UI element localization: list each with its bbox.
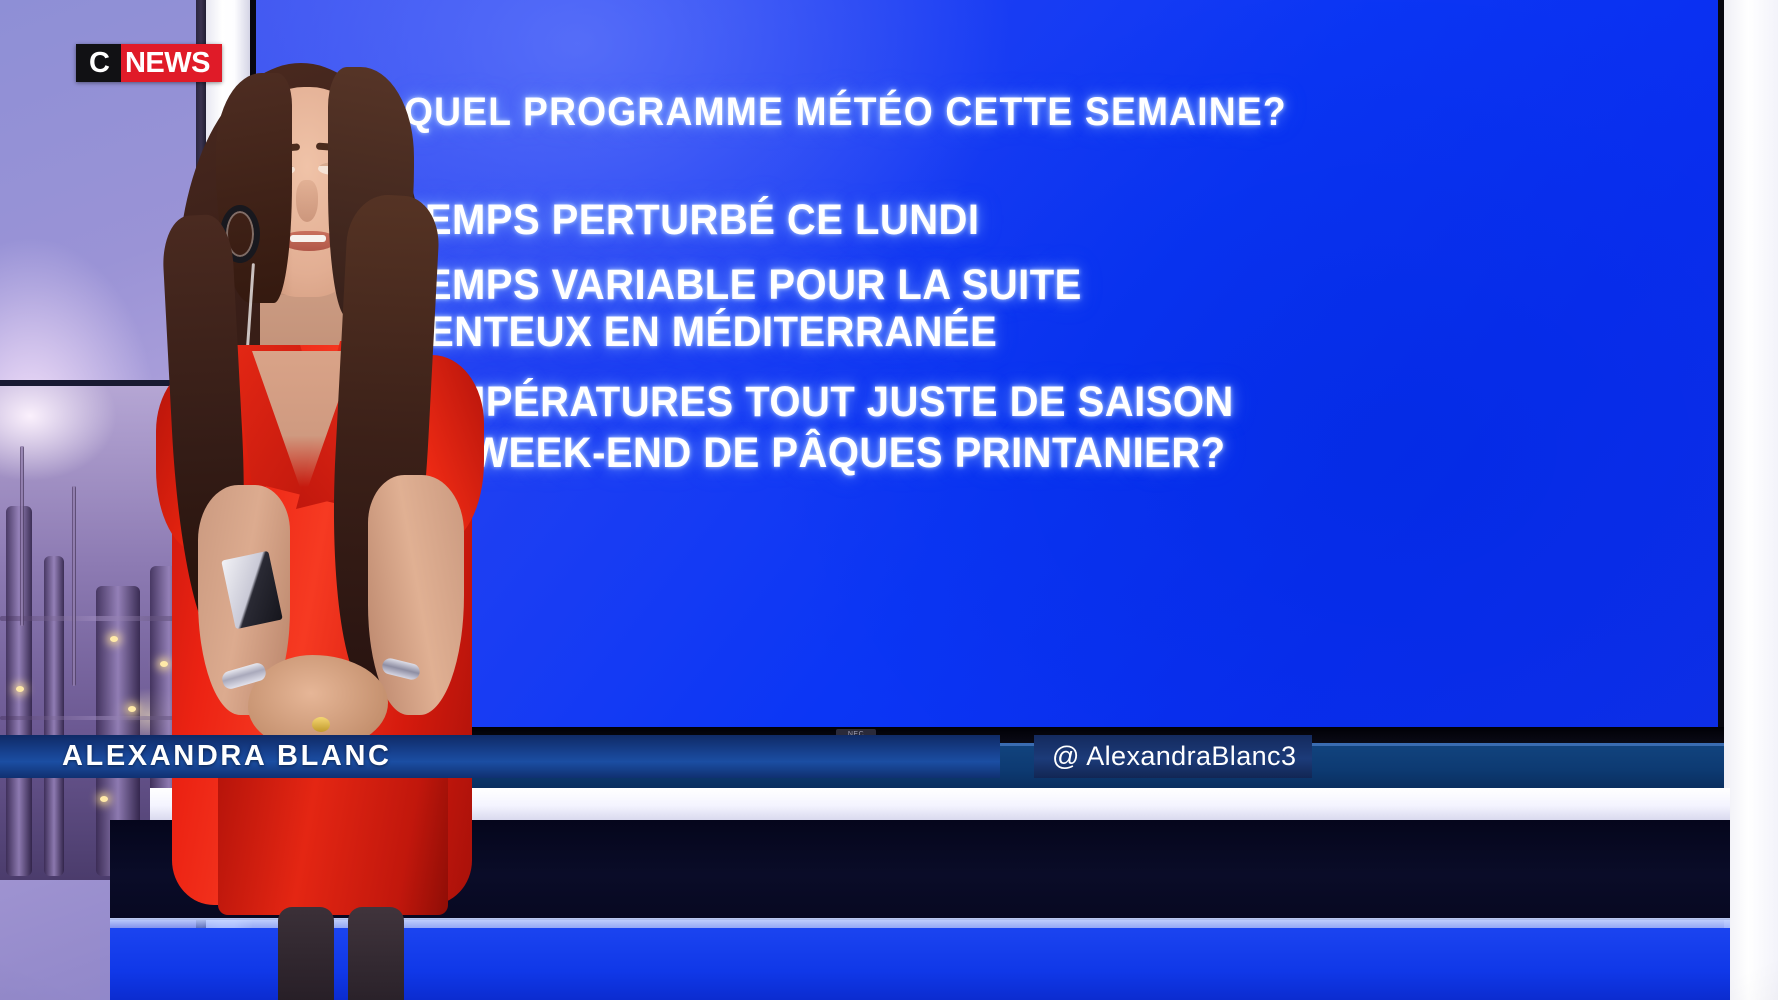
presenter-figure bbox=[100, 45, 520, 1000]
slide-line-5: UN WEEK-END DE PÂQUES PRINTANIER? bbox=[400, 429, 1226, 478]
channel-logo-news: NEWS bbox=[121, 44, 222, 82]
lower-third-name-band: ALEXANDRA BLANC bbox=[0, 735, 1000, 778]
presenter-arm-right bbox=[368, 475, 464, 715]
presenter-ring bbox=[312, 717, 330, 732]
presenter-teeth bbox=[290, 235, 326, 242]
presenter-nose bbox=[296, 180, 318, 222]
slide-title: QUEL PROGRAMME MÉTÉO CETTE SEMAINE? bbox=[404, 90, 1287, 135]
studio-wall-right bbox=[1724, 0, 1778, 1000]
presenter-leg-right bbox=[348, 907, 404, 1000]
social-handle-box: @ AlexandraBlanc3 bbox=[1034, 735, 1312, 778]
presenter-name-label: ALEXANDRA BLANC bbox=[62, 740, 392, 773]
slide-line-4: TEMPÉRATURES TOUT JUSTE DE SAISON bbox=[400, 378, 1234, 427]
channel-logo: C NEWS bbox=[76, 44, 222, 82]
broadcast-screenshot: QUEL PROGRAMME MÉTÉO CETTE SEMAINE? TEMP… bbox=[0, 0, 1778, 1000]
presenter-leg-left bbox=[278, 907, 334, 1000]
channel-logo-c: C bbox=[76, 44, 121, 82]
social-handle-label: @ AlexandraBlanc3 bbox=[1052, 741, 1296, 772]
